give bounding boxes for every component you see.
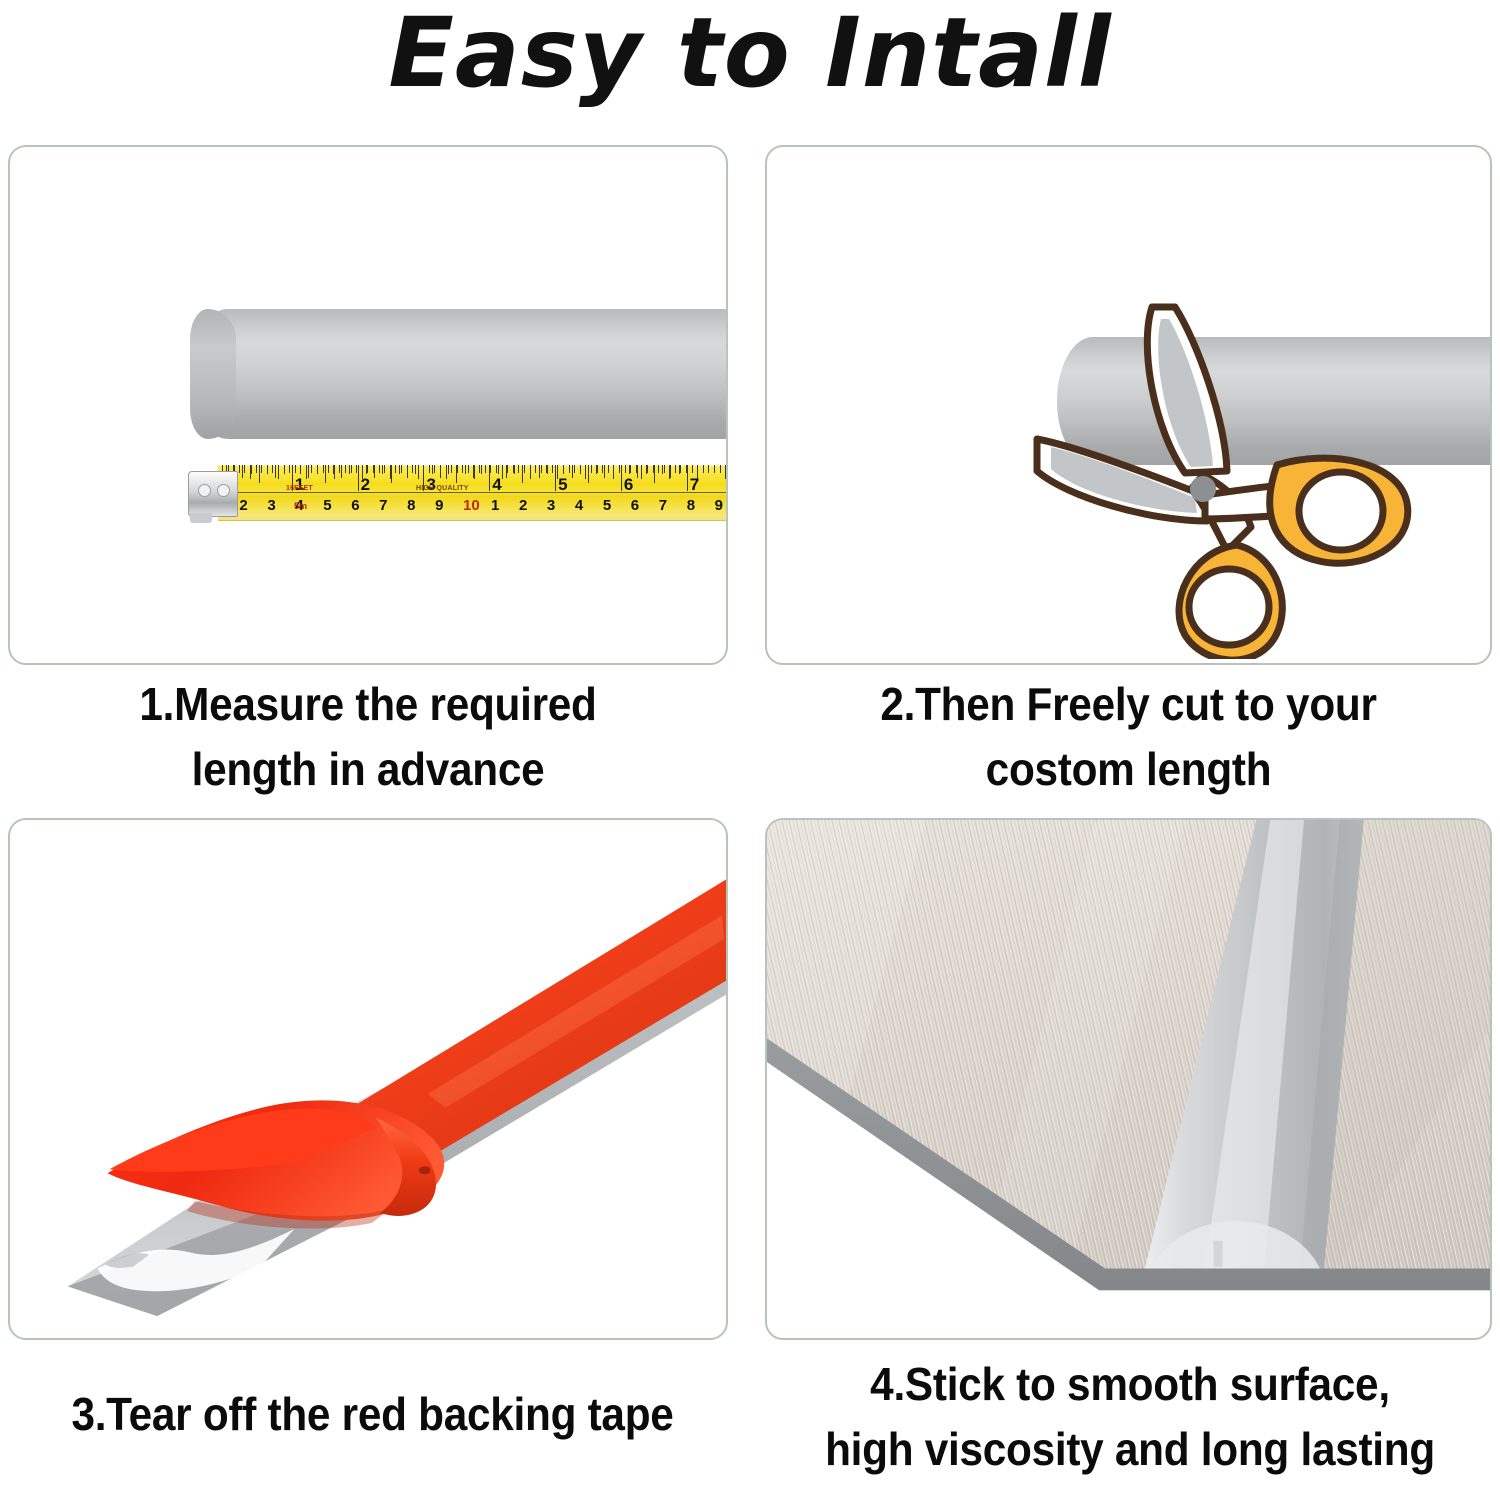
- tape-metric-number: 9: [715, 498, 723, 513]
- step-4-image-panel: [765, 818, 1492, 1340]
- tape-metric-number: 8: [687, 498, 695, 513]
- tape-metric-number: 8: [407, 498, 415, 513]
- step-3-caption: 3.Tear off the red backing tape: [30, 1382, 715, 1447]
- tape-measure-illustration: 12345672345678910123456789 16FEET HIGH Q…: [188, 465, 728, 521]
- step-2-image-panel: [765, 145, 1492, 665]
- tape-metric-number: 4: [575, 498, 583, 513]
- tape-quality-label: HIGH QUALITY: [416, 485, 469, 492]
- step-3-image-panel: [8, 818, 728, 1340]
- tape-metric-number: 3: [547, 498, 555, 513]
- tape-imperial-number: 7: [690, 476, 699, 493]
- tape-imperial-number: 2: [361, 476, 370, 493]
- installed-strip-on-floor-illustration: [767, 820, 1490, 1338]
- tape-measure-hook: [188, 471, 238, 517]
- caption-line: length in advance: [37, 737, 699, 802]
- tape-metric-number: 9: [435, 498, 443, 513]
- peeling-backing-tape-illustration: [10, 820, 726, 1338]
- tape-measure-hook-tail: [190, 513, 212, 523]
- tape-metric-number: 6: [351, 498, 359, 513]
- caption-line: 4.Stick to smooth surface,: [790, 1352, 1471, 1417]
- tape-metric-number: 7: [379, 498, 387, 513]
- scissors-icon: [989, 289, 1439, 659]
- tape-metric-number: 10: [463, 498, 480, 513]
- step-1-caption: 1.Measure the required length in advance: [37, 672, 699, 803]
- page-title: Easy to Intall: [0, 2, 1500, 106]
- caption-line: 2.Then Freely cut to your: [794, 672, 1463, 737]
- tape-imperial-number: 6: [624, 476, 633, 493]
- tape-imperial-number: 4: [492, 476, 501, 493]
- tape-metric-number: 2: [239, 498, 247, 513]
- tape-metric-number: 7: [659, 498, 667, 513]
- pipe-illustration: [190, 309, 728, 439]
- caption-line: 3.Tear off the red backing tape: [30, 1382, 715, 1447]
- tape-metric-number: 5: [603, 498, 611, 513]
- tape-metric-number: 5: [323, 498, 331, 513]
- step-4-caption: 4.Stick to smooth surface, high viscosit…: [790, 1352, 1471, 1483]
- tape-brand-label: 16FEET: [286, 485, 313, 492]
- tape-metric-number: 2: [519, 498, 527, 513]
- tape-metric-tag: 5m: [294, 501, 307, 511]
- step-2-caption: 2.Then Freely cut to your costom length: [794, 672, 1463, 803]
- tape-metric-number: 1: [491, 498, 499, 513]
- tape-metric-number: 3: [267, 498, 275, 513]
- caption-line: high viscosity and long lasting: [790, 1417, 1471, 1482]
- tape-metric-number: 6: [631, 498, 639, 513]
- caption-line: 1.Measure the required: [37, 672, 699, 737]
- caption-line: costom length: [794, 737, 1463, 802]
- step-1-image-panel: 12345672345678910123456789 16FEET HIGH Q…: [8, 145, 728, 665]
- tape-imperial-number: 5: [558, 476, 567, 493]
